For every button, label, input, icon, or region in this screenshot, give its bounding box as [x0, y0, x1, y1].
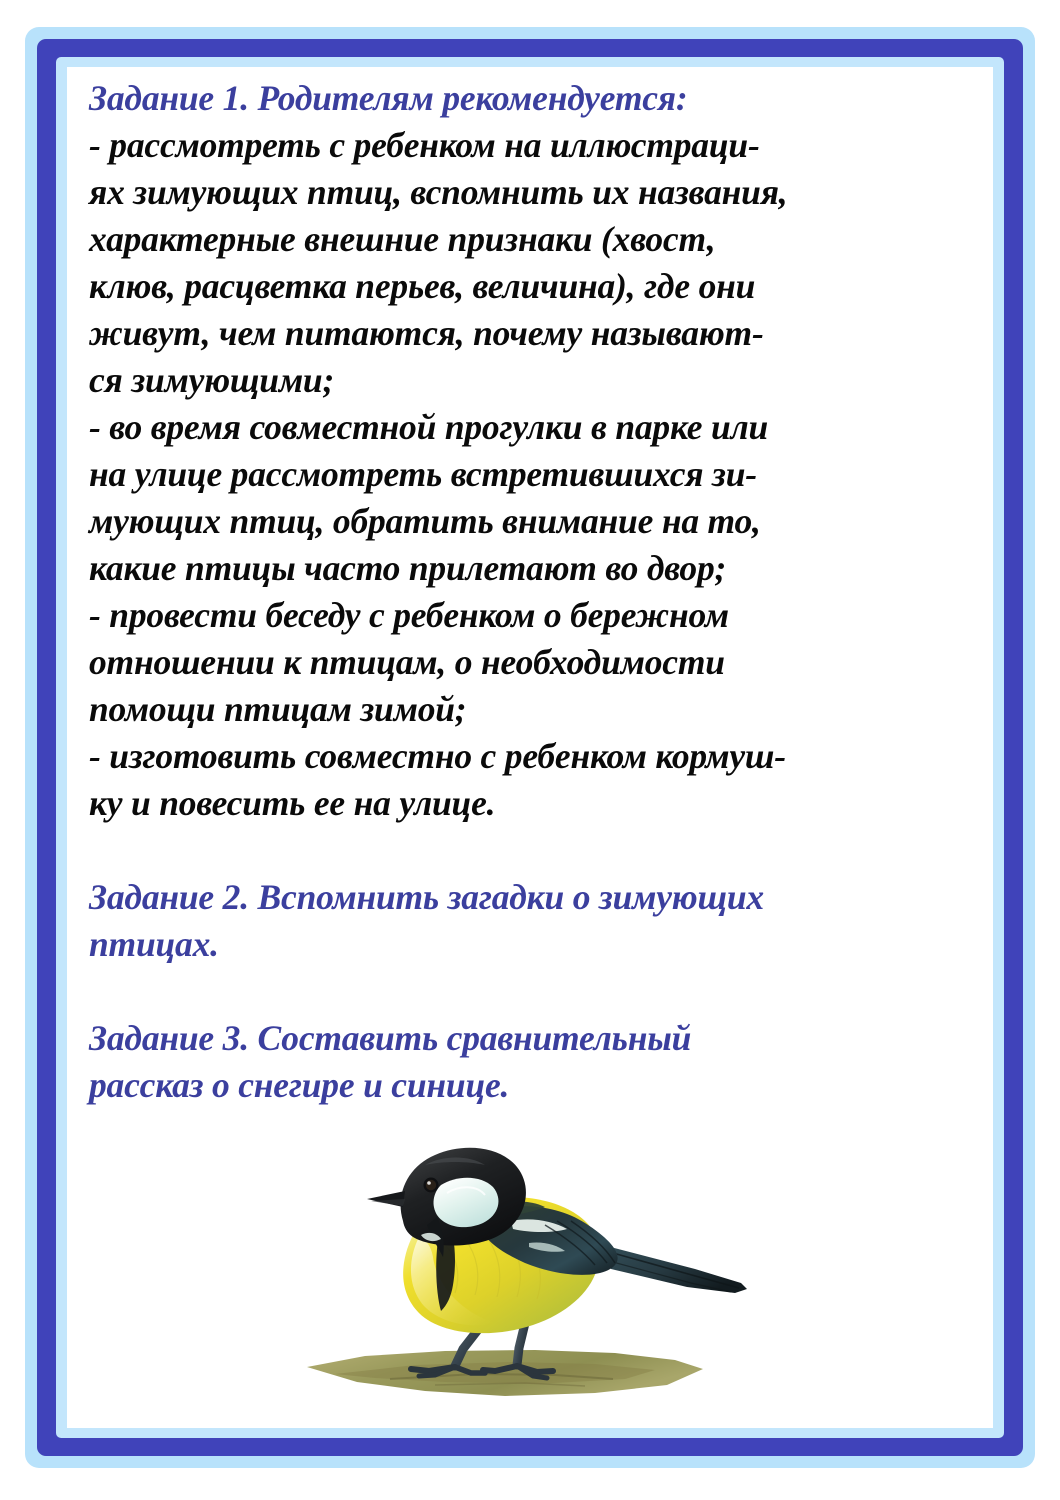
task-2-block: Задание 2. Вспомнить загадки о зимующих … [89, 874, 975, 968]
task-3-heading: Задание 3. Составить сравнительный [89, 1015, 975, 1062]
task-1-line-6: ся зимующими; [89, 357, 975, 404]
task-1-line-1: - рассмотреть с ребенком на иллюстраци- [89, 122, 975, 169]
task-1-line-9: мующих птиц, обратить внимание на то, [89, 498, 975, 545]
poster-page: Задание 1. Родителям рекомендуется: - ра… [0, 0, 1060, 1500]
task-1-line-2: ях зимующих птиц, вспомнить их названия, [89, 169, 975, 216]
task-3-line-1: рассказ о снегире и синице. [89, 1062, 975, 1109]
task-2-heading: Задание 2. Вспомнить загадки о зимующих [89, 874, 975, 921]
spacer-after-task-1 [89, 827, 975, 874]
task-1-line-8: на улице рассмотреть встретившихся зи- [89, 451, 975, 498]
frame-outer-band: Задание 1. Родителям рекомендуется: - ра… [25, 27, 1035, 1468]
task-1-line-11: - провести беседу с ребенком о бережном [89, 592, 975, 639]
poster-content: Задание 1. Родителям рекомендуется: - ра… [67, 67, 993, 1428]
task-1-line-3: характерные внешние признаки (хвост, [89, 216, 975, 263]
task-2-line-1: птицах. [89, 921, 975, 968]
task-1-line-13: помощи птицам зимой; [89, 686, 975, 733]
task-3-block: Задание 3. Составить сравнительный расск… [89, 1015, 975, 1109]
task-1-line-10: какие птицы часто прилетают во двор; [89, 545, 975, 592]
frame-inner-band: Задание 1. Родителям рекомендуется: - ра… [56, 57, 1004, 1438]
task-1-line-15: ку и повесить ее на улице. [89, 780, 975, 827]
task-1-line-12: отношении к птицам, о необходимости [89, 639, 975, 686]
task-1-line-4: клюв, расцветка перьев, величина), где о… [89, 263, 975, 310]
task-1-line-5: живут, чем питаются, почему называют- [89, 310, 975, 357]
frame-middle-band: Задание 1. Родителям рекомендуется: - ра… [37, 39, 1023, 1456]
task-1-heading: Задание 1. Родителям рекомендуется: [89, 75, 975, 122]
task-1-line-14: - изготовить совместно с ребенком кормуш… [89, 733, 975, 780]
spacer-after-task-2 [89, 968, 975, 1015]
poster-paper: Задание 1. Родителям рекомендуется: - ра… [67, 67, 993, 1428]
task-1-line-7: - во время совместной прогулки в парке и… [89, 404, 975, 451]
task-1-block: Задание 1. Родителям рекомендуется: - ра… [89, 75, 975, 827]
